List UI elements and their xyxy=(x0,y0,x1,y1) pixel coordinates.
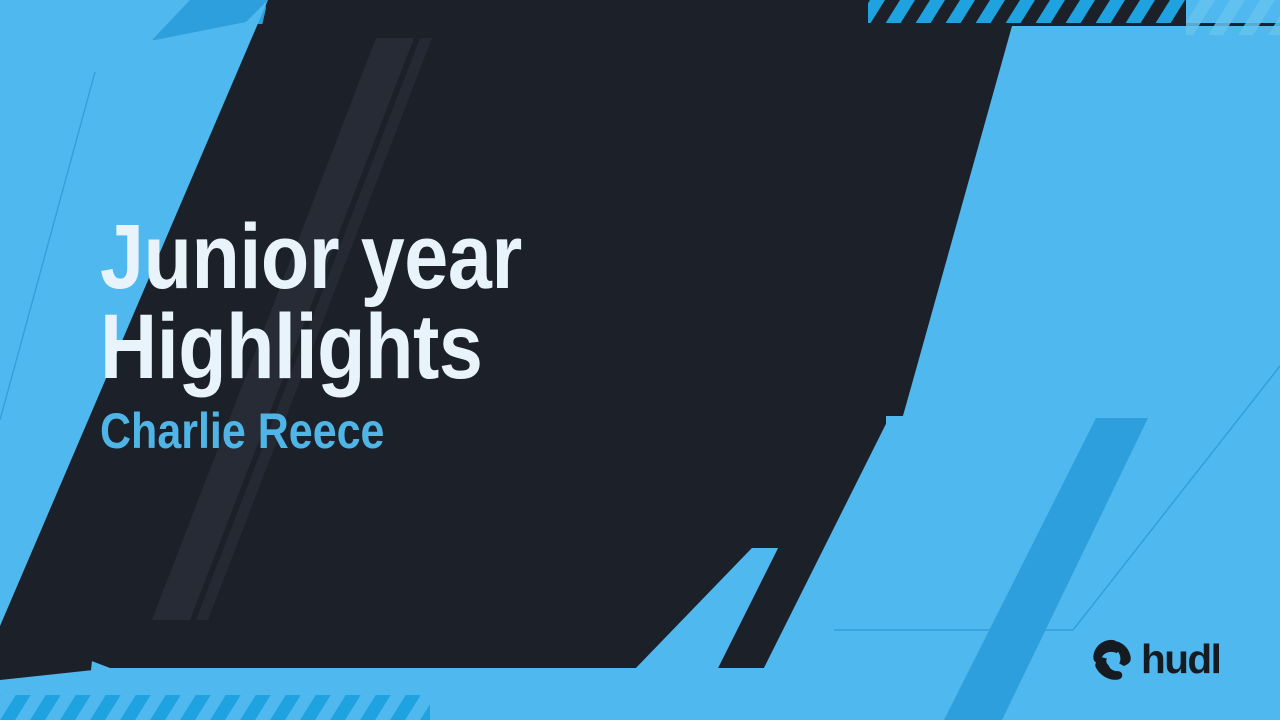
stripe-band-top-right xyxy=(860,0,1280,35)
navy-upper xyxy=(265,0,1280,24)
navy-gap-fill xyxy=(155,26,1280,38)
title-block: Junior year Highlights Charlie Reece xyxy=(100,212,800,456)
navy-main xyxy=(155,24,1008,40)
navy-top-rect xyxy=(262,0,1280,26)
navy-silhouette xyxy=(205,0,1280,38)
title-line-2: Highlights xyxy=(100,302,702,392)
hairline-diagonal-topleft xyxy=(0,72,95,420)
navy-group xyxy=(155,0,1280,38)
decor-slash-top-left xyxy=(190,0,310,45)
navy-top-strip-b xyxy=(265,0,1280,24)
navy-upper-strip xyxy=(262,0,1280,26)
navy-top xyxy=(265,0,1280,24)
stripe-band-top-right-light xyxy=(1186,0,1280,23)
navy-core xyxy=(155,24,1280,40)
hudl-logo: hudl xyxy=(1090,636,1250,684)
dark-navy-main xyxy=(157,0,1280,38)
hudl-wordmark: hudl xyxy=(1141,638,1250,682)
stripe-band-bottom-left xyxy=(0,688,440,720)
hudl-logo-icon xyxy=(1090,638,1133,682)
dark-navy-panel xyxy=(155,0,1280,40)
slide-canvas: Junior year Highlights Charlie Reece hud… xyxy=(0,0,1280,720)
navy-strip-visible xyxy=(262,0,1280,26)
navy-mass xyxy=(155,24,1280,40)
svg-text:hudl: hudl xyxy=(1141,638,1220,682)
navy-inner-stripe-3 xyxy=(1040,38,1280,560)
navy-body xyxy=(210,0,1280,22)
hairline-outline-right xyxy=(834,366,1280,630)
navy-region xyxy=(263,0,1280,22)
navy-top-strip xyxy=(265,0,1280,24)
artwork xyxy=(155,0,1280,38)
title-line-1: Junior year xyxy=(100,212,702,302)
subtitle-athlete-name: Charlie Reece xyxy=(100,406,702,456)
stripe-band-top-right-over-blue xyxy=(1186,0,1280,35)
decor-slash-topleft-dark xyxy=(152,0,268,40)
navy-band-top xyxy=(264,0,1280,24)
dark-navy-shape xyxy=(157,0,1280,40)
